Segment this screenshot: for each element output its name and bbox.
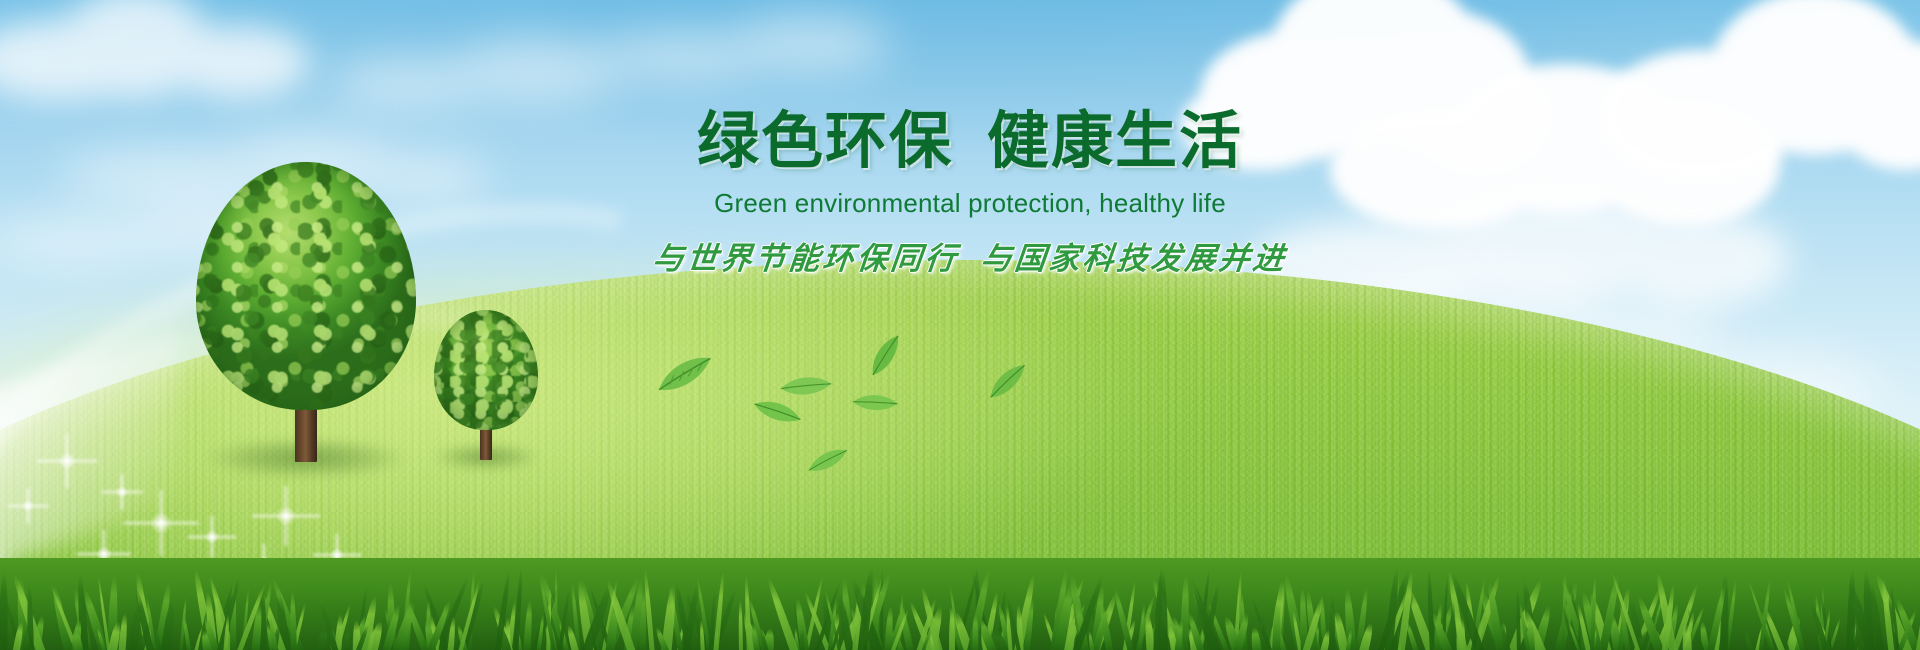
foreground-grass — [0, 558, 1920, 650]
headline-left: 绿色环保 — [697, 104, 953, 177]
subtitle-chinese-calligraphy: 与世界节能环保同行与国家科技发展并进 — [618, 233, 1323, 278]
banner-text-block: 绿色环保健康生活 Green environmental protection,… — [620, 108, 1320, 278]
eco-banner: 绿色环保健康生活 Green environmental protection,… — [0, 0, 1920, 650]
subtitle-chinese-right: 与国家科技发展并进 — [979, 241, 1289, 277]
large-tree — [196, 162, 416, 462]
cloud-upper-centre — [330, 30, 630, 120]
cloud-right-mid — [1330, 40, 1750, 230]
headline: 绿色环保健康生活 — [620, 108, 1320, 174]
cloud-top-left — [0, 0, 330, 120]
cloud-far-right — [1600, 0, 1920, 190]
small-tree-canopy — [434, 310, 538, 430]
large-tree-canopy — [196, 162, 416, 410]
subtitle-english: Green environmental protection, healthy … — [620, 188, 1320, 219]
headline-right: 健康生活 — [987, 104, 1243, 177]
large-tree-canopy-edge — [196, 162, 416, 410]
subtitle-chinese-left: 与世界节能环保同行 — [651, 241, 961, 277]
small-tree — [434, 310, 538, 460]
small-tree-canopy-edge — [434, 310, 538, 430]
cloud-top-mid — [600, 10, 900, 90]
